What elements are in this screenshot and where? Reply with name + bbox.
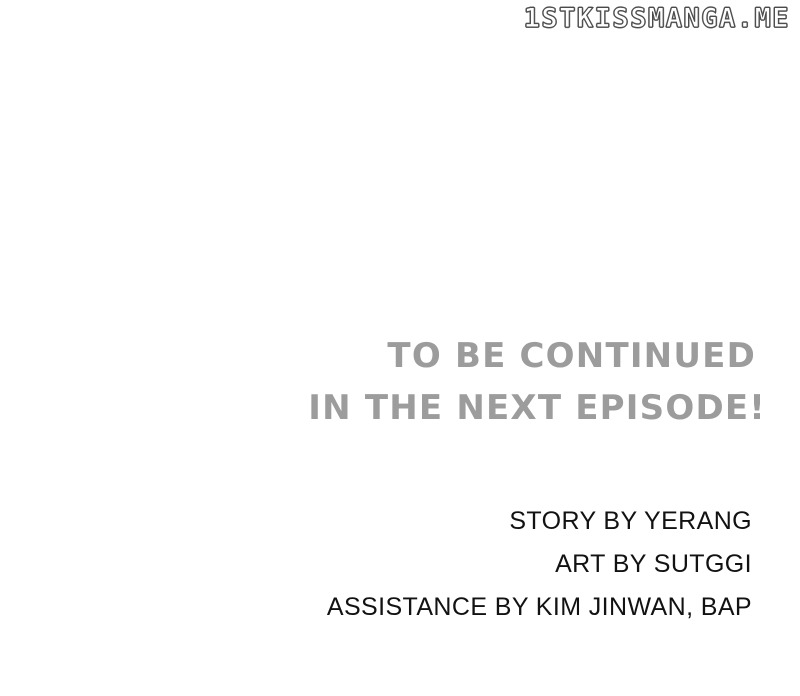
credit-line-art: ART BY SUTGGI (0, 543, 752, 586)
credits-block: STORY BY YERANG ART BY SUTGGI ASSISTANCE… (0, 500, 752, 629)
comic-end-page: 1STKISSMANGA.ME TO BE CONTINUED IN THE N… (0, 0, 800, 696)
site-watermark: 1STKISSMANGA.ME (524, 2, 790, 36)
to-be-continued-line-2: IN THE NEXT EPISODE! (0, 382, 770, 434)
credit-line-assistance: ASSISTANCE BY KIM JINWAN, BAP (0, 586, 752, 629)
credit-line-story: STORY BY YERANG (0, 500, 752, 543)
to-be-continued-block: TO BE CONTINUED IN THE NEXT EPISODE! (0, 330, 770, 434)
to-be-continued-line-1: TO BE CONTINUED (0, 330, 770, 382)
